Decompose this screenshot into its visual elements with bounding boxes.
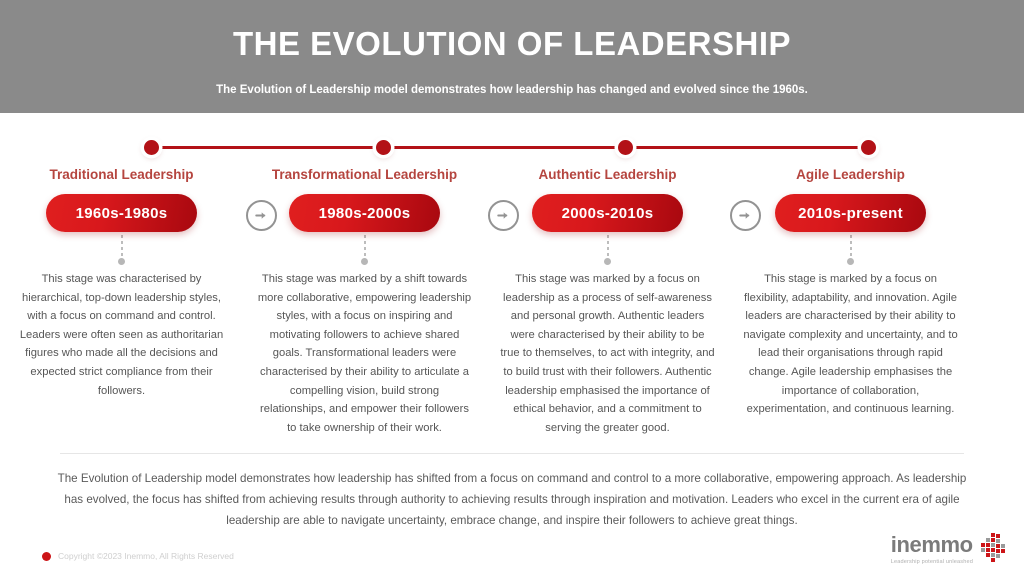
timeline-rail [0, 133, 1024, 161]
logo-mark-icon [980, 533, 1006, 563]
logo-tagline: Leadership potential unleashed [891, 559, 973, 565]
stage-connector [364, 235, 366, 259]
stage-connector [850, 235, 852, 259]
timeline-node-icon [861, 140, 876, 155]
stage-connector-dot [361, 258, 368, 265]
copyright: Copyright ©2023 Inemmo, All Rights Reser… [42, 551, 234, 561]
stage-connector [121, 235, 123, 259]
arrow-right-icon [246, 200, 277, 231]
stage-description: This stage was marked by a focus on lead… [486, 270, 729, 437]
stage-agile: Agile Leadership 2010s-present [729, 167, 972, 232]
logo-wordmark: inemmo [891, 534, 973, 556]
stage-description: This stage was marked by a shift towards… [243, 270, 486, 437]
stage-connector-dot [118, 258, 125, 265]
copyright-text: Copyright ©2023 Inemmo, All Rights Reser… [58, 551, 234, 561]
stage-connector-dot [847, 258, 854, 265]
stage-period-pill[interactable]: 2010s-present [775, 194, 926, 232]
stage-connector-dot [604, 258, 611, 265]
stage-description: This stage was characterised by hierarch… [0, 270, 243, 437]
timeline-node-icon [144, 140, 159, 155]
stage-header-row: Traditional Leadership 1960s-1980s Trans… [0, 167, 1024, 232]
arrow-right-icon [730, 200, 761, 231]
stage-title: Authentic Leadership [538, 167, 676, 182]
logo-text-block: inemmo Leadership potential unleashed [891, 534, 973, 565]
page-subtitle: The Evolution of Leadership model demons… [216, 84, 808, 96]
arrow-right-icon [488, 200, 519, 231]
stage-authentic: Authentic Leadership 2000s-2010s [486, 167, 729, 232]
timeline-line [151, 146, 868, 149]
bullet-dot-icon [42, 552, 51, 561]
page-footer: Copyright ©2023 Inemmo, All Rights Reser… [0, 536, 1024, 576]
stage-period-pill[interactable]: 1960s-1980s [46, 194, 197, 232]
stage-period-pill[interactable]: 1980s-2000s [289, 194, 440, 232]
stage-title: Agile Leadership [796, 167, 905, 182]
brand-logo: inemmo Leadership potential unleashed [891, 533, 1006, 565]
stage-period-pill[interactable]: 2000s-2010s [532, 194, 683, 232]
page-header: THE EVOLUTION OF LEADERSHIP The Evolutio… [0, 0, 1024, 113]
stage-transformational: Transformational Leadership 1980s-2000s [243, 167, 486, 232]
page-title: THE EVOLUTION OF LEADERSHIP [233, 24, 791, 64]
stage-title: Transformational Leadership [272, 167, 457, 182]
stage-connector [607, 235, 609, 259]
stage-title: Traditional Leadership [49, 167, 193, 182]
stage-description: This stage is marked by a focus on flexi… [729, 270, 972, 437]
stage-description-row: This stage was characterised by hierarch… [0, 270, 1024, 437]
timeline-node-icon [376, 140, 391, 155]
stage-traditional: Traditional Leadership 1960s-1980s [0, 167, 243, 232]
section-divider [60, 453, 964, 454]
summary-paragraph: The Evolution of Leadership model demons… [52, 469, 972, 531]
timeline-node-icon [618, 140, 633, 155]
